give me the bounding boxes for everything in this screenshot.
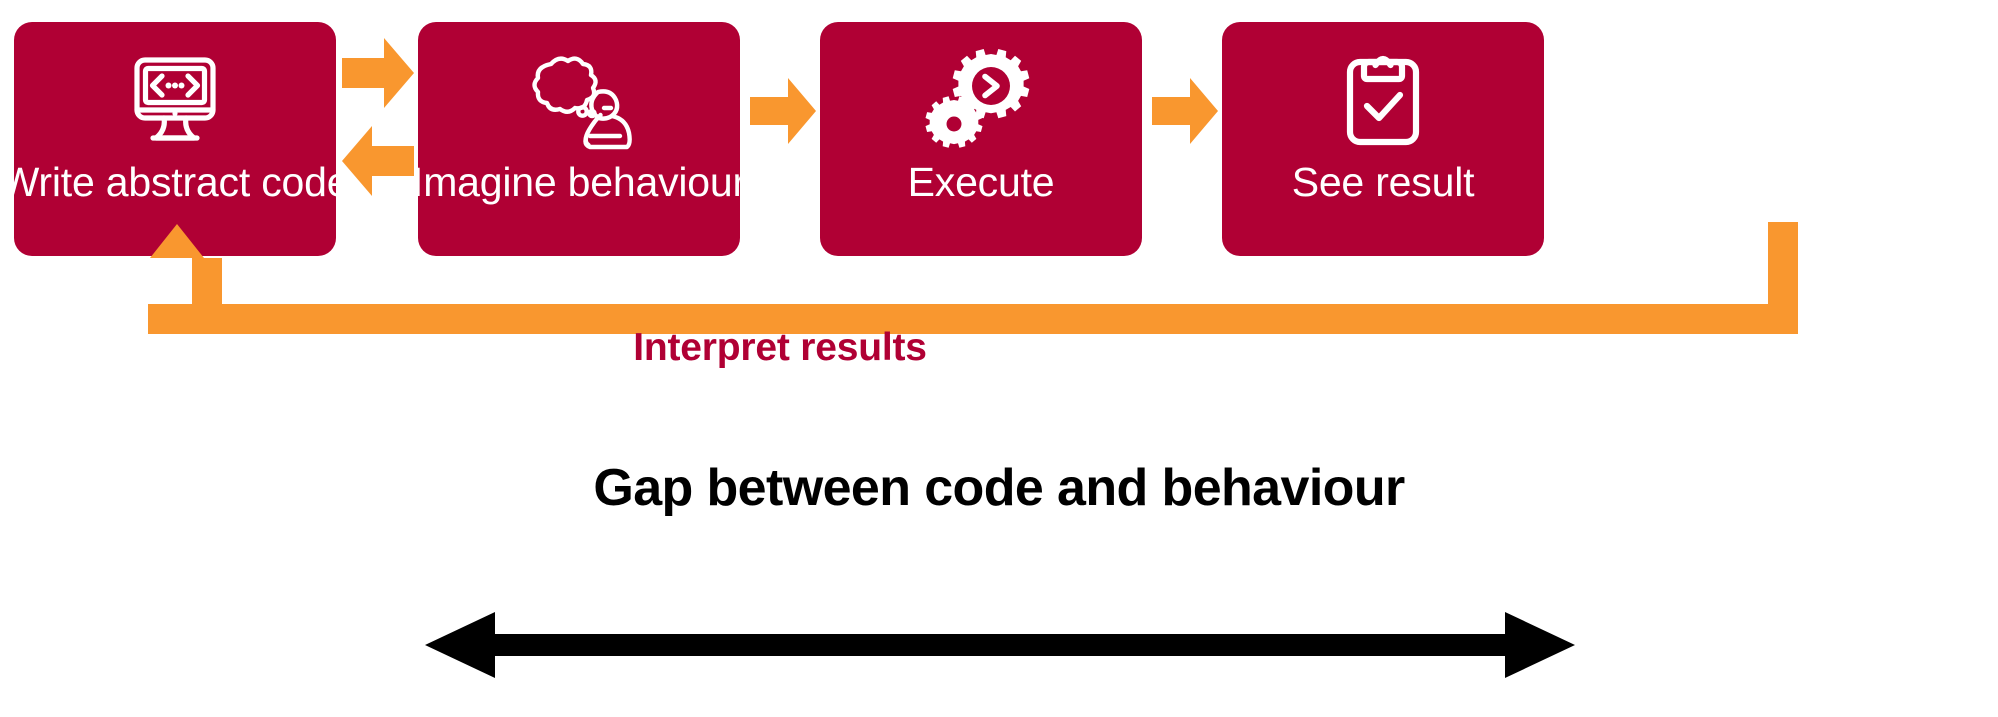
interpret-results-label: Interpret results — [0, 326, 1560, 370]
clipboard-check-icon — [1337, 48, 1429, 152]
diagram-canvas: Write abstract code — [0, 0, 1998, 717]
arrow-right-icon-execute-to-see-result — [1150, 76, 1220, 146]
stage-card-label: See result — [1292, 160, 1475, 205]
gap-caption-label: Gap between code and behaviour — [0, 458, 1998, 518]
arrow-left-icon-imagine-to-write — [340, 124, 416, 198]
stage-card-label: Execute — [908, 160, 1055, 205]
double-headed-arrow-icon — [425, 612, 1575, 678]
stage-card-execute[interactable]: Execute — [820, 22, 1142, 256]
arrow-right-icon-write-to-imagine — [340, 36, 416, 110]
thinking-person-icon — [520, 48, 638, 152]
arrow-right-icon-imagine-to-execute — [748, 76, 818, 146]
stage-card-label: Imagine behaviour — [412, 160, 746, 205]
monitor-code-icon — [123, 48, 227, 152]
stage-card-label: Write abstract code — [1, 160, 350, 205]
stage-card-see-result[interactable]: See result — [1222, 22, 1544, 256]
stage-card-imagine-behaviour[interactable]: Imagine behaviour — [418, 22, 740, 256]
stage-card-write-abstract-code[interactable]: Write abstract code — [14, 22, 336, 256]
gears-play-icon — [925, 48, 1037, 152]
